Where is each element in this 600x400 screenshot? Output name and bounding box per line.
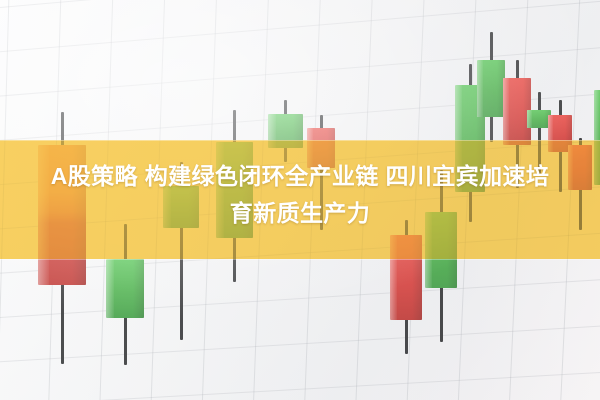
headline-line-2: 育新质生产力 (0, 195, 600, 232)
candlestick-body (477, 60, 505, 117)
candlestick-banner: A股策略 构建绿色闭环全产业链 四川宜宾加速培 育新质生产力 (0, 0, 600, 400)
headline-band-bottom-edge (0, 259, 600, 260)
candlestick (477, 32, 505, 142)
candlestick-body (106, 259, 144, 318)
headline-text: A股策略 构建绿色闭环全产业链 四川宜宾加速培 育新质生产力 (0, 158, 600, 232)
headline-band-top-edge (0, 140, 600, 141)
headline-line-1: A股策略 构建绿色闭环全产业链 四川宜宾加速培 (51, 163, 550, 189)
